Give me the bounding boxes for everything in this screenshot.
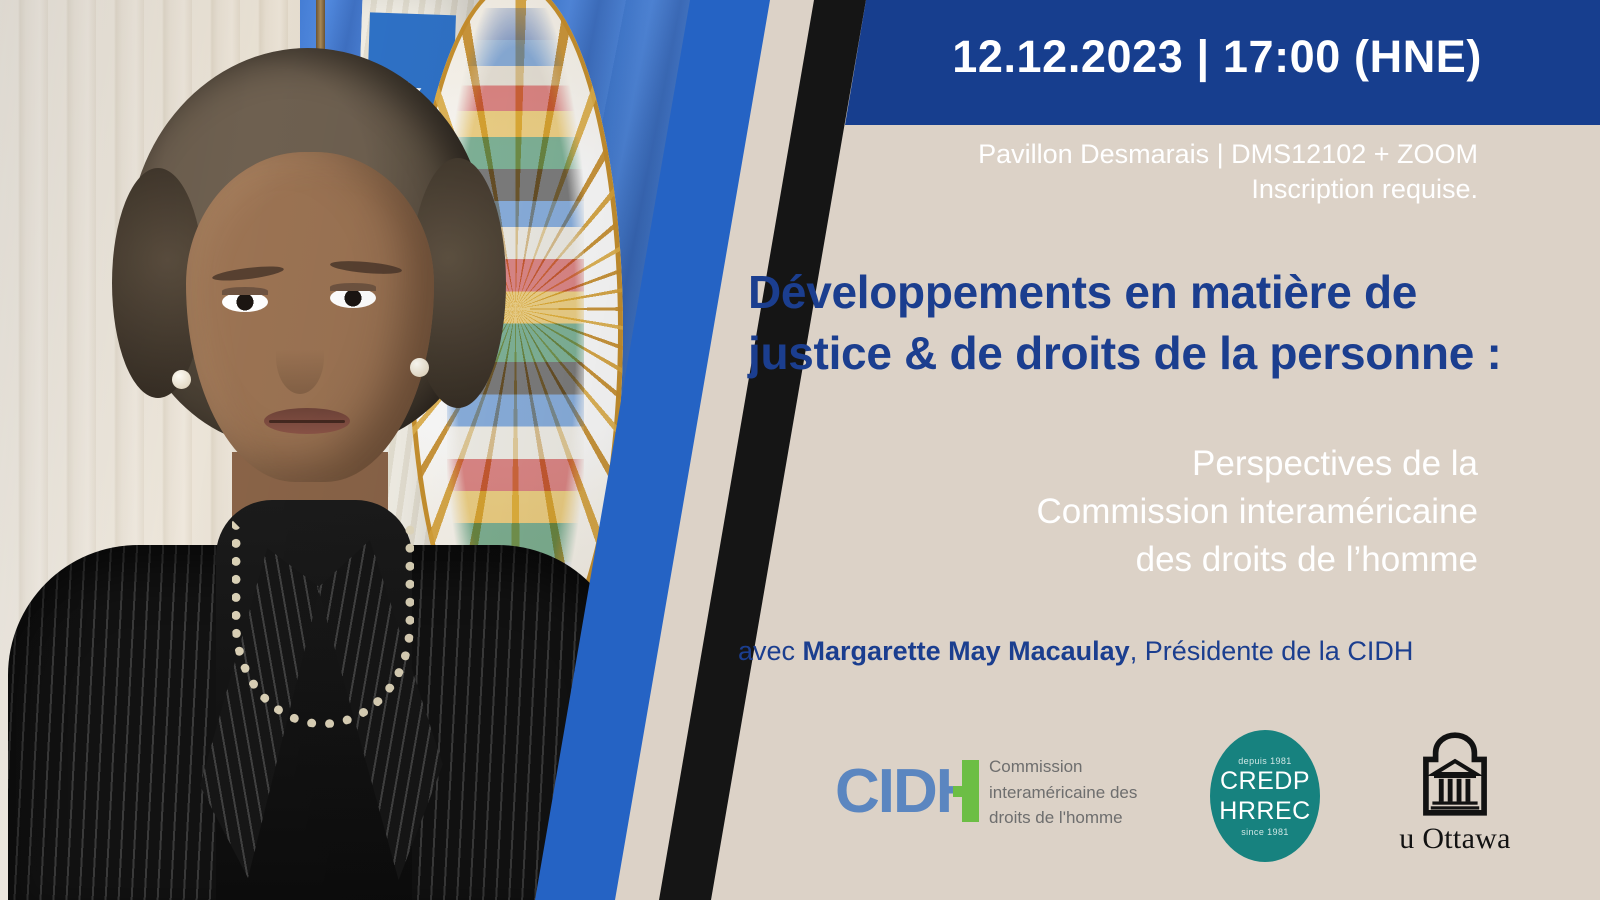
event-datetime: 12.12.2023 | 17:00 (HNE) <box>952 31 1482 83</box>
subtitle-line-1: Perspectives de la <box>778 440 1478 488</box>
cidh-logo: CIDH Commission interaméricaine des droi… <box>835 754 1137 831</box>
credp-depuis: depuis 1981 <box>1238 756 1291 766</box>
subtitle-line-3: des droits de l’homme <box>778 536 1478 584</box>
uottawa-logo: u Ottawa <box>1380 732 1530 856</box>
cidh-logomark: CIDH <box>835 761 973 823</box>
event-subtitle: Perspectives de la Commission interaméri… <box>778 440 1478 584</box>
credp-acronym-fr: CREDP <box>1220 766 1310 797</box>
speaker-title: , Présidente de la CIDH <box>1130 636 1414 666</box>
speaker-prefix: avec <box>738 636 803 666</box>
event-venue: Pavillon Desmarais | DMS12102 + ZOOM Ins… <box>978 137 1478 206</box>
subtitle-line-2: Commission interaméricaine <box>778 488 1478 536</box>
uottawa-crest-icon <box>1414 732 1496 816</box>
speaker-name: Margarette May Macaulay <box>803 636 1130 666</box>
credp-hrrec-logo: depuis 1981 CREDP HRREC since 1981 <box>1210 730 1320 862</box>
event-poster: 12.12.2023 | 17:00 (HNE) Pavillon Desmar… <box>0 0 1600 900</box>
credp-since: since 1981 <box>1241 827 1289 837</box>
credp-acronym-en: HRREC <box>1219 796 1310 827</box>
speaker-credit: avec Margarette May Macaulay, Présidente… <box>738 636 1538 667</box>
uottawa-wordmark: u Ottawa <box>1380 822 1530 856</box>
event-title: Développements en matière de justice & d… <box>748 262 1516 384</box>
cidh-wordmark-text: Commission interaméricaine des droits de… <box>989 754 1137 831</box>
venue-line-1: Pavillon Desmarais | DMS12102 + ZOOM <box>978 137 1478 172</box>
cidh-green-crossbar <box>953 786 979 797</box>
venue-line-2: Inscription requise. <box>978 172 1478 207</box>
logo-row: CIDH Commission interaméricaine des droi… <box>780 726 1540 866</box>
